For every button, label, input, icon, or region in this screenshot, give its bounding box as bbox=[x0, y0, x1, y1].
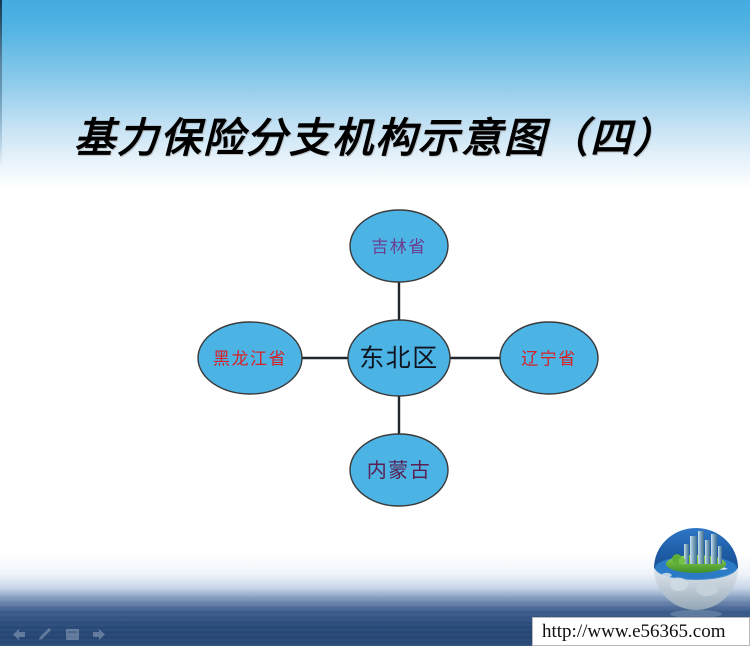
earth-city-globe-logo bbox=[648, 528, 744, 620]
node-liaoning-label: 辽宁省 bbox=[521, 350, 577, 369]
node-liaoning[interactable]: 辽宁省 bbox=[500, 322, 598, 394]
node-jilin-label: 吉林省 bbox=[371, 238, 427, 257]
pen-tool-icon[interactable] bbox=[37, 627, 54, 642]
presenter-nav-toolbar[interactable] bbox=[10, 625, 110, 643]
previous-slide-icon[interactable] bbox=[10, 627, 27, 642]
presentation-slide: 基力保险分支机构示意图（四） 吉林省 黑龙江省 辽宁省 bbox=[0, 0, 750, 646]
node-dongbeiqu-center[interactable]: 东北区 bbox=[348, 320, 450, 396]
node-neimenggu-label: 内蒙古 bbox=[367, 459, 432, 482]
node-jilin[interactable]: 吉林省 bbox=[350, 210, 448, 282]
website-url-plate[interactable]: http://www.e56365.com bbox=[532, 617, 750, 646]
next-slide-icon[interactable] bbox=[91, 627, 108, 642]
org-chart-diagram: 吉林省 黑龙江省 辽宁省 内蒙古 东北区 bbox=[0, 0, 750, 646]
node-dongbeiqu-label: 东北区 bbox=[359, 345, 439, 373]
slide-menu-icon[interactable] bbox=[64, 627, 81, 642]
node-heilongjiang[interactable]: 黑龙江省 bbox=[198, 322, 302, 394]
node-neimenggu[interactable]: 内蒙古 bbox=[350, 434, 448, 506]
website-url-text[interactable]: http://www.e56365.com bbox=[542, 621, 725, 643]
node-heilongjiang-label: 黑龙江省 bbox=[213, 350, 287, 369]
